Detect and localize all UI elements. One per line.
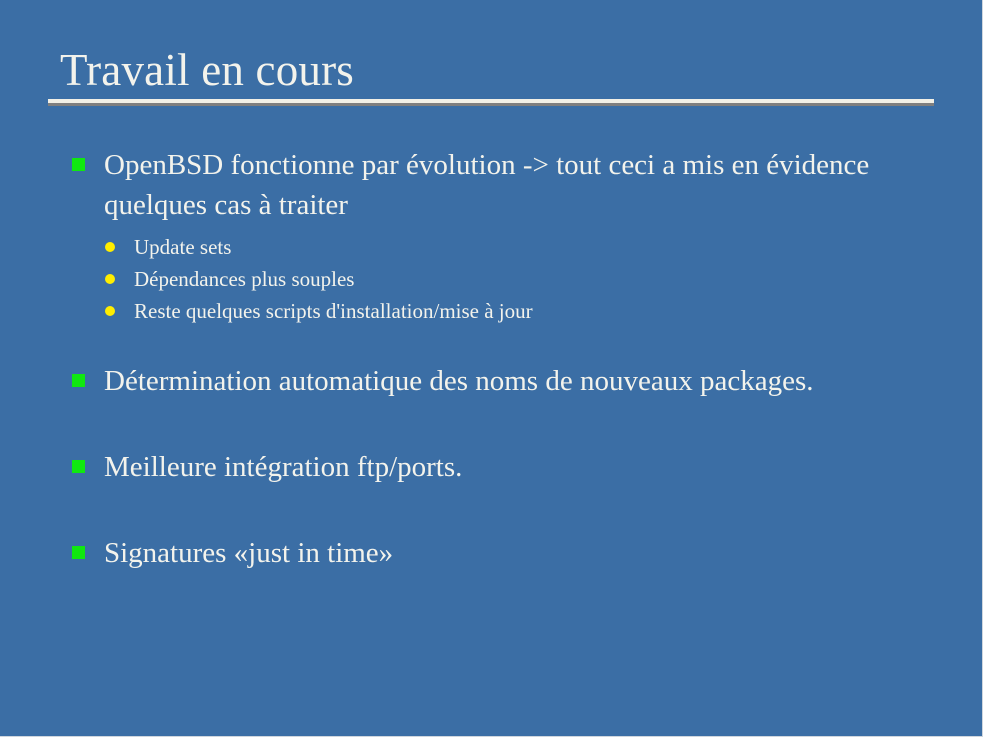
page-title: Travail en cours bbox=[48, 44, 934, 96]
bullet-text: Signatures «just in time» bbox=[104, 533, 952, 573]
sub-bullet-item: Reste quelques scripts d'installation/mi… bbox=[104, 295, 952, 327]
bullet-text: OpenBSD fonctionne par évolution -> tout… bbox=[104, 145, 952, 225]
square-bullet-icon bbox=[72, 158, 85, 171]
sub-bullet-text: Update sets bbox=[134, 235, 231, 259]
bullet-spacer bbox=[72, 487, 952, 533]
bullet-text: Meilleure intégration ftp/ports. bbox=[104, 447, 952, 487]
bullet-spacer bbox=[72, 401, 952, 447]
sub-bullet-list: Update sets Dépendances plus souples Res… bbox=[104, 231, 952, 327]
bullet-item: OpenBSD fonctionne par évolution -> tout… bbox=[72, 145, 952, 327]
square-bullet-icon bbox=[72, 374, 85, 387]
bullet-item: Signatures «just in time» bbox=[72, 533, 952, 573]
bullet-item: Meilleure intégration ftp/ports. bbox=[72, 447, 952, 487]
slide-title-block: Travail en cours bbox=[48, 44, 934, 106]
square-bullet-icon bbox=[72, 546, 85, 559]
dot-bullet-icon bbox=[105, 306, 115, 316]
title-underline-rule bbox=[48, 99, 934, 106]
square-bullet-icon bbox=[72, 460, 85, 473]
sub-bullet-text: Reste quelques scripts d'installation/mi… bbox=[134, 299, 533, 323]
sub-bullet-item: Update sets bbox=[104, 231, 952, 263]
bullet-text: Détermination automatique des noms de no… bbox=[104, 361, 952, 401]
dot-bullet-icon bbox=[105, 242, 115, 252]
sub-bullet-item: Dépendances plus souples bbox=[104, 263, 952, 295]
title-rule-shadow bbox=[48, 103, 934, 106]
presentation-slide: Travail en cours OpenBSD fonctionne par … bbox=[0, 0, 983, 737]
bullet-spacer bbox=[72, 327, 952, 361]
sub-bullet-text: Dépendances plus souples bbox=[134, 267, 354, 291]
slide-body: OpenBSD fonctionne par évolution -> tout… bbox=[72, 145, 952, 573]
bullet-item: Détermination automatique des noms de no… bbox=[72, 361, 952, 401]
dot-bullet-icon bbox=[105, 274, 115, 284]
